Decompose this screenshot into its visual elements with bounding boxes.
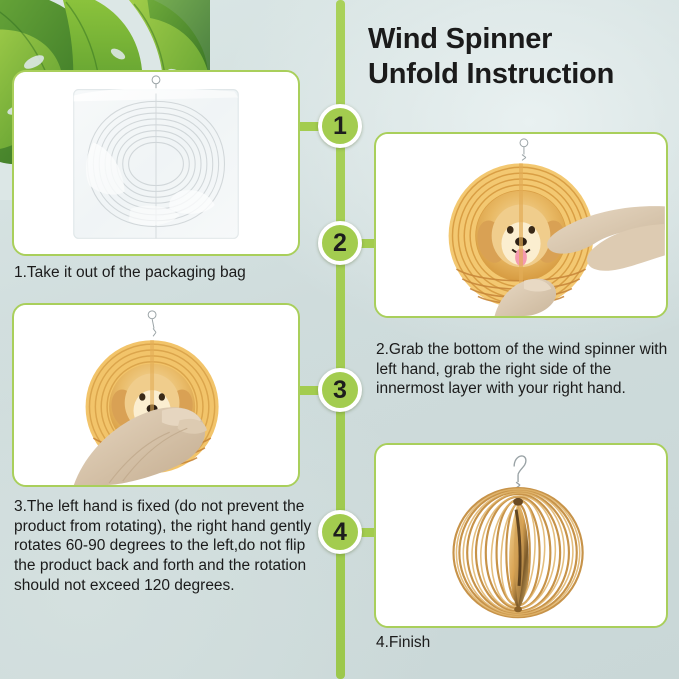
step-badge-4: 4 xyxy=(318,510,362,554)
page-title: Wind Spinner Unfold Instruction xyxy=(368,22,673,93)
step-badge-2: 2 xyxy=(318,221,362,265)
step-badge-1: 1 xyxy=(318,104,362,148)
step-1-caption: 1.Take it out of the packaging bag xyxy=(14,263,314,283)
instruction-poster: 1 2 3 4 Wind Spinner Unfold Instruction xyxy=(0,0,679,679)
page-title-line-1: Wind Spinner xyxy=(368,22,673,57)
page-title-line-2: Unfold Instruction xyxy=(368,57,673,92)
step-3-image xyxy=(12,303,300,487)
step-4-caption: 4.Finish xyxy=(376,633,656,653)
timeline-spine xyxy=(336,0,345,679)
step-badge-3: 3 xyxy=(318,368,362,412)
step-1-image xyxy=(12,70,300,256)
step-2-caption: 2.Grab the bottom of the wind spinner wi… xyxy=(376,340,676,399)
step-4-image xyxy=(374,443,668,628)
step-3-caption: 3.The left hand is fixed (do not prevent… xyxy=(14,497,314,595)
step-2-image xyxy=(374,132,668,318)
